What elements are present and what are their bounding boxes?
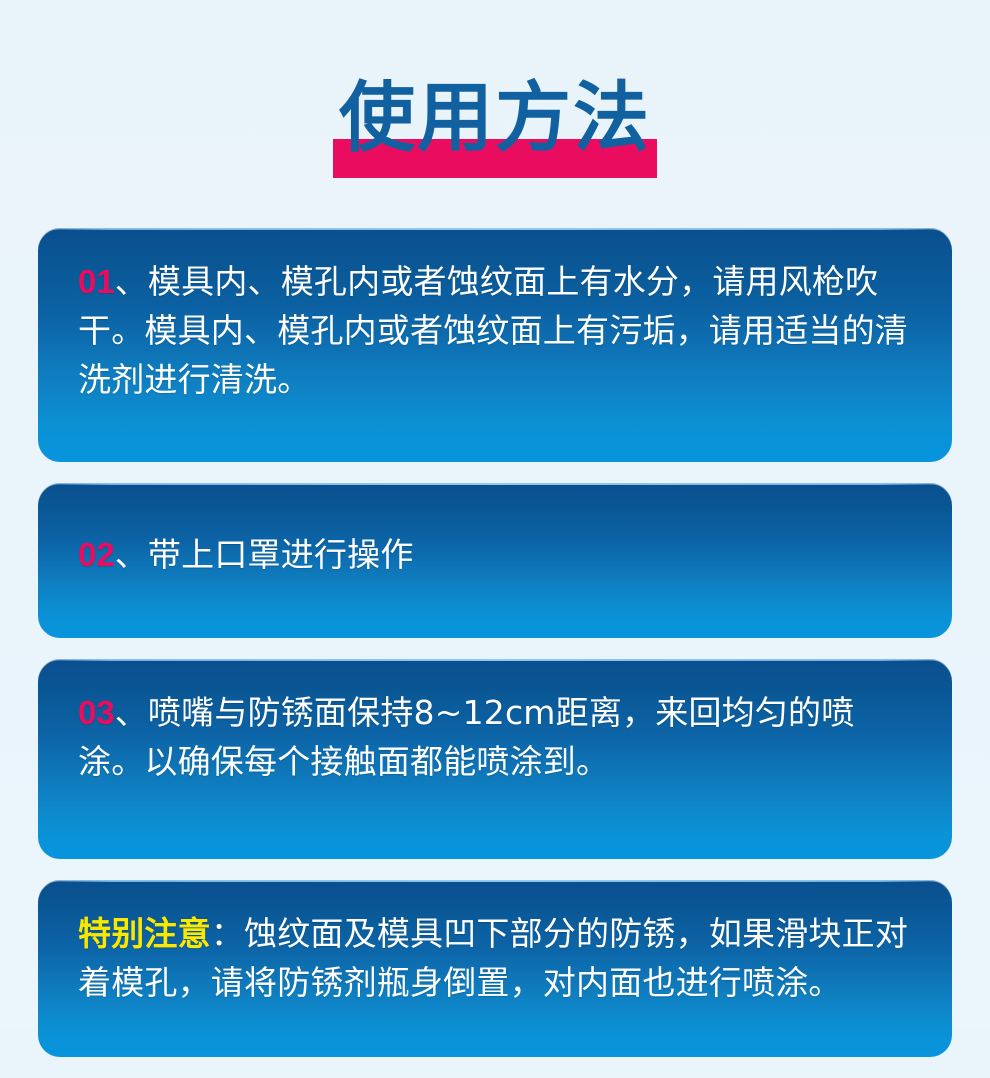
promo-page: 使用方法 01、模具内、模孔内或者蚀纹面上有水分，请用风枪吹干。模具内、模孔内或…	[0, 0, 990, 1026]
step-card-01-text: 01、模具内、模孔内或者蚀纹面上有水分，请用风枪吹干。模具内、模孔内或者蚀纹面上…	[78, 258, 912, 404]
title-text: 使用方法	[339, 73, 651, 162]
step-number-02: 02	[78, 536, 115, 573]
step-body-01: 模具内、模孔内或者蚀纹面上有水分，请用风枪吹干。模具内、模孔内或者蚀纹面上有污垢…	[78, 262, 908, 399]
step-number-03: 03	[78, 694, 115, 731]
step-card-02-text: 02、带上口罩进行操作	[78, 531, 912, 580]
step-card-01-body: 01、模具内、模孔内或者蚀纹面上有水分，请用风枪吹干。模具内、模孔内或者蚀纹面上…	[38, 228, 952, 462]
step-separator-01: 、	[115, 262, 148, 301]
step-body-03: 喷嘴与防锈面保持8~12cm距离，来回均匀的喷涂。以确保每个接触面都能喷涂到。	[78, 693, 854, 781]
special-notice-label: 特别注意	[78, 914, 211, 953]
step-card-02-body: 02、带上口罩进行操作	[38, 483, 952, 638]
step-card-01: 01、模具内、模孔内或者蚀纹面上有水分，请用风枪吹干。模具内、模孔内或者蚀纹面上…	[38, 228, 952, 462]
step-separator-03: 、	[115, 693, 148, 732]
step-card-03: 03、喷嘴与防锈面保持8~12cm距离，来回均匀的喷涂。以确保每个接触面都能喷涂…	[38, 659, 952, 859]
step-card-03-body: 03、喷嘴与防锈面保持8~12cm距离，来回均匀的喷涂。以确保每个接触面都能喷涂…	[38, 659, 952, 859]
special-notice-separator: ：	[211, 914, 244, 953]
page-title: 使用方法	[0, 72, 990, 192]
step-body-02: 带上口罩进行操作	[148, 535, 414, 574]
step-card-03-text: 03、喷嘴与防锈面保持8~12cm距离，来回均匀的喷涂。以确保每个接触面都能喷涂…	[78, 689, 912, 787]
special-notice-card: 特别注意：蚀纹面及模具凹下部分的防锈，如果滑块正对着模孔，请将防锈剂瓶身倒置，对…	[38, 880, 952, 1057]
special-notice-text: 特别注意：蚀纹面及模具凹下部分的防锈，如果滑块正对着模孔，请将防锈剂瓶身倒置，对…	[78, 910, 912, 1008]
title-wrapper: 使用方法	[333, 72, 657, 165]
step-separator-02: 、	[115, 535, 148, 574]
steps-list: 01、模具内、模孔内或者蚀纹面上有水分，请用风枪吹干。模具内、模孔内或者蚀纹面上…	[38, 228, 952, 1078]
step-card-02: 02、带上口罩进行操作	[38, 483, 952, 638]
step-number-01: 01	[78, 263, 115, 300]
special-notice-body: 特别注意：蚀纹面及模具凹下部分的防锈，如果滑块正对着模孔，请将防锈剂瓶身倒置，对…	[38, 880, 952, 1050]
